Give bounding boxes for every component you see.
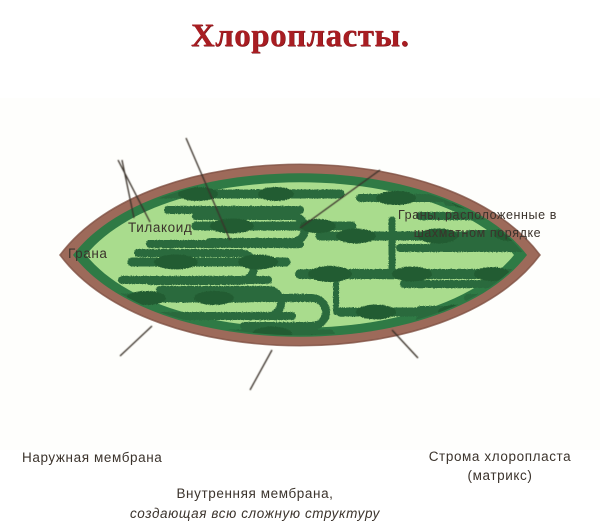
label-stroma-line2: (матрикс) (468, 468, 533, 483)
chloroplast-figure: Грана Тилакоид Граны, расположенные в ша… (0, 98, 600, 450)
leader-inner-membrane (250, 350, 272, 390)
label-stroma-line1: Строма хлоропласта (429, 449, 572, 464)
label-grana: Грана (68, 246, 108, 261)
label-inner-membrane-line1: Внутренняя мембрана, (176, 486, 333, 501)
label-grana-checkerboard-line1: Граны, расположенные в (398, 208, 557, 222)
label-grana-checkerboard-line2: шахматном порядке (414, 226, 542, 240)
label-thylakoid: Тилакоид (128, 220, 192, 235)
label-inner-membrane: Внутренняя мембрана, создающая всю сложн… (110, 484, 400, 523)
chloroplast-illustration (0, 98, 600, 450)
leader-outer-membrane (120, 326, 152, 356)
label-stroma: Строма хлоропласта (матрикс) (410, 448, 590, 486)
label-inner-membrane-line2: создающая всю сложную структуру (130, 506, 380, 521)
page-title: Хлоропласты. (0, 18, 600, 55)
slide-root: Хлоропласты. (0, 0, 600, 450)
label-grana-checkerboard: Граны, расположенные в шахматном порядке (365, 206, 590, 242)
label-outer-membrane: Наружная мембрана (22, 450, 162, 465)
